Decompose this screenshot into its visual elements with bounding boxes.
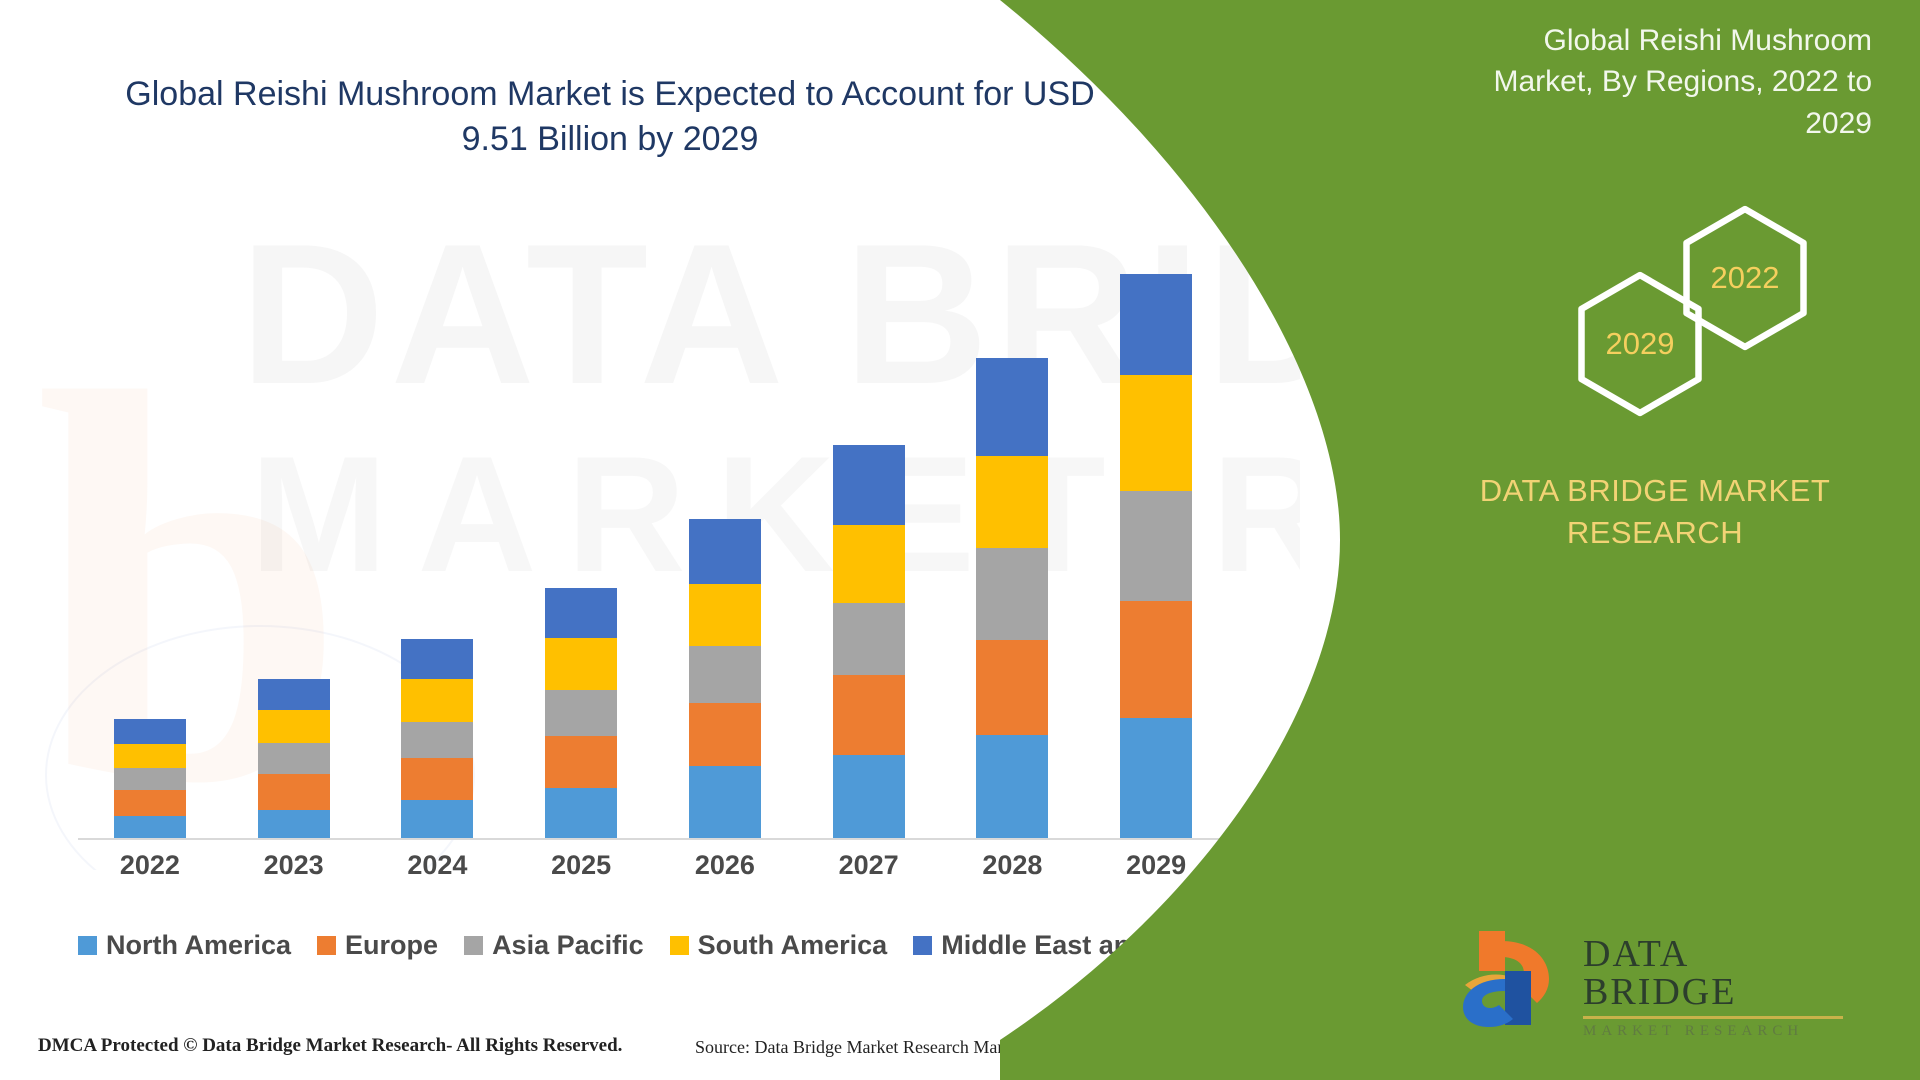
legend-label: North America bbox=[106, 930, 291, 961]
bar-segment bbox=[833, 445, 905, 525]
bars-row bbox=[78, 200, 1228, 840]
legend-item[interactable]: North America bbox=[78, 930, 291, 961]
bar-segment bbox=[689, 584, 761, 646]
infographic-root: b DATA BRIDGE MARKET RESEARCH Global Rei… bbox=[0, 0, 1920, 1080]
bar-column bbox=[367, 200, 507, 840]
bar-segment bbox=[976, 735, 1048, 840]
bar-stack bbox=[976, 358, 1048, 840]
bar-segment bbox=[258, 679, 330, 710]
chart-panel: b DATA BRIDGE MARKET RESEARCH Global Rei… bbox=[0, 0, 1300, 1080]
bar-stack bbox=[258, 679, 330, 840]
legend-label: Middle East and Africa bbox=[941, 930, 1230, 961]
legend-label: Europe bbox=[345, 930, 438, 961]
x-axis-labels: 20222023202420252026202720282029 bbox=[78, 850, 1228, 881]
hexagon-group: 2022 2029 bbox=[1520, 205, 1810, 405]
bar-segment bbox=[258, 810, 330, 840]
bar-column bbox=[1086, 200, 1226, 840]
source-text: Source: Data Bridge Market Research Mark… bbox=[695, 1037, 1179, 1058]
x-axis-label: 2023 bbox=[224, 850, 364, 881]
chart-legend: North AmericaEuropeAsia PacificSouth Ame… bbox=[78, 930, 1258, 961]
bar-column bbox=[942, 200, 1082, 840]
logo-main-text: DATA BRIDGE bbox=[1583, 935, 1843, 1011]
legend-item[interactable]: Asia Pacific bbox=[464, 930, 644, 961]
x-axis-label: 2026 bbox=[655, 850, 795, 881]
x-axis-label: 2027 bbox=[799, 850, 939, 881]
x-axis-label: 2022 bbox=[80, 850, 220, 881]
chart-title: Global Reishi Mushroom Market is Expecte… bbox=[110, 72, 1110, 162]
bar-segment bbox=[1120, 491, 1192, 601]
legend-swatch-icon bbox=[78, 936, 97, 955]
bar-segment bbox=[545, 788, 617, 840]
bar-segment bbox=[1120, 274, 1192, 375]
bar-segment bbox=[114, 744, 186, 768]
bar-segment bbox=[114, 816, 186, 840]
bar-segment bbox=[545, 690, 617, 736]
bar-segment bbox=[689, 646, 761, 703]
bar-segment bbox=[114, 768, 186, 790]
bar-segment bbox=[689, 519, 761, 584]
bar-segment bbox=[401, 679, 473, 722]
logo-divider bbox=[1583, 1016, 1843, 1019]
hexagon-2029-label: 2029 bbox=[1575, 271, 1705, 417]
plot-area bbox=[78, 200, 1228, 840]
hexagon-2029-icon: 2029 bbox=[1575, 271, 1705, 417]
bar-segment bbox=[1120, 375, 1192, 491]
bar-column bbox=[224, 200, 364, 840]
brand-panel-title: Global Reishi Mushroom Market, By Region… bbox=[1452, 20, 1872, 144]
data-bridge-logo: DATA BRIDGE MARKET RESEARCH bbox=[1455, 915, 1845, 1035]
x-axis-label: 2024 bbox=[367, 850, 507, 881]
bar-stack bbox=[545, 588, 617, 840]
bar-stack bbox=[1120, 274, 1192, 840]
bar-stack bbox=[833, 445, 905, 840]
bar-segment bbox=[401, 800, 473, 840]
bar-segment bbox=[1120, 718, 1192, 840]
bar-segment bbox=[689, 703, 761, 766]
x-axis-label: 2028 bbox=[942, 850, 1082, 881]
legend-swatch-icon bbox=[913, 936, 932, 955]
hexagon-2022-label: 2022 bbox=[1680, 205, 1810, 351]
bar-segment bbox=[1120, 601, 1192, 718]
bar-column bbox=[655, 200, 795, 840]
logo-wordmark: DATA BRIDGE MARKET RESEARCH bbox=[1583, 935, 1843, 1040]
bar-segment bbox=[258, 774, 330, 810]
bar-segment bbox=[545, 736, 617, 788]
bar-segment bbox=[258, 710, 330, 743]
legend-item[interactable]: Europe bbox=[317, 930, 438, 961]
bar-segment bbox=[976, 548, 1048, 640]
legend-item[interactable]: South America bbox=[670, 930, 888, 961]
bar-segment bbox=[833, 675, 905, 755]
bar-segment bbox=[689, 766, 761, 840]
bar-column bbox=[511, 200, 651, 840]
bar-segment bbox=[545, 638, 617, 690]
bar-segment bbox=[114, 790, 186, 816]
legend-item[interactable]: Middle East and Africa bbox=[913, 930, 1230, 961]
bar-segment bbox=[976, 640, 1048, 735]
legend-swatch-icon bbox=[670, 936, 689, 955]
bar-segment bbox=[833, 603, 905, 675]
brand-name-text: DATA BRIDGE MARKET RESEARCH bbox=[1425, 470, 1885, 554]
logo-mark-icon bbox=[1455, 923, 1575, 1033]
bar-segment bbox=[545, 588, 617, 638]
x-axis-label: 2029 bbox=[1086, 850, 1226, 881]
bar-segment bbox=[401, 722, 473, 758]
bar-column bbox=[799, 200, 939, 840]
legend-swatch-icon bbox=[317, 936, 336, 955]
bar-stack bbox=[114, 719, 186, 840]
legend-label: Asia Pacific bbox=[492, 930, 644, 961]
bar-segment bbox=[976, 358, 1048, 456]
bar-segment bbox=[258, 743, 330, 774]
bar-column bbox=[80, 200, 220, 840]
legend-label: South America bbox=[698, 930, 888, 961]
x-axis-label: 2025 bbox=[511, 850, 651, 881]
hexagon-2022-icon: 2022 bbox=[1680, 205, 1810, 351]
x-axis-line bbox=[78, 838, 1228, 840]
bar-segment bbox=[976, 456, 1048, 548]
bar-segment bbox=[114, 719, 186, 744]
bar-stack bbox=[689, 519, 761, 840]
logo-sub-text: MARKET RESEARCH bbox=[1583, 1023, 1843, 1040]
copyright-text: DMCA Protected © Data Bridge Market Rese… bbox=[38, 1035, 622, 1057]
bar-segment bbox=[833, 525, 905, 603]
bar-segment bbox=[833, 755, 905, 840]
bar-segment bbox=[401, 639, 473, 679]
bar-segment bbox=[401, 758, 473, 800]
bar-stack bbox=[401, 639, 473, 840]
legend-swatch-icon bbox=[464, 936, 483, 955]
